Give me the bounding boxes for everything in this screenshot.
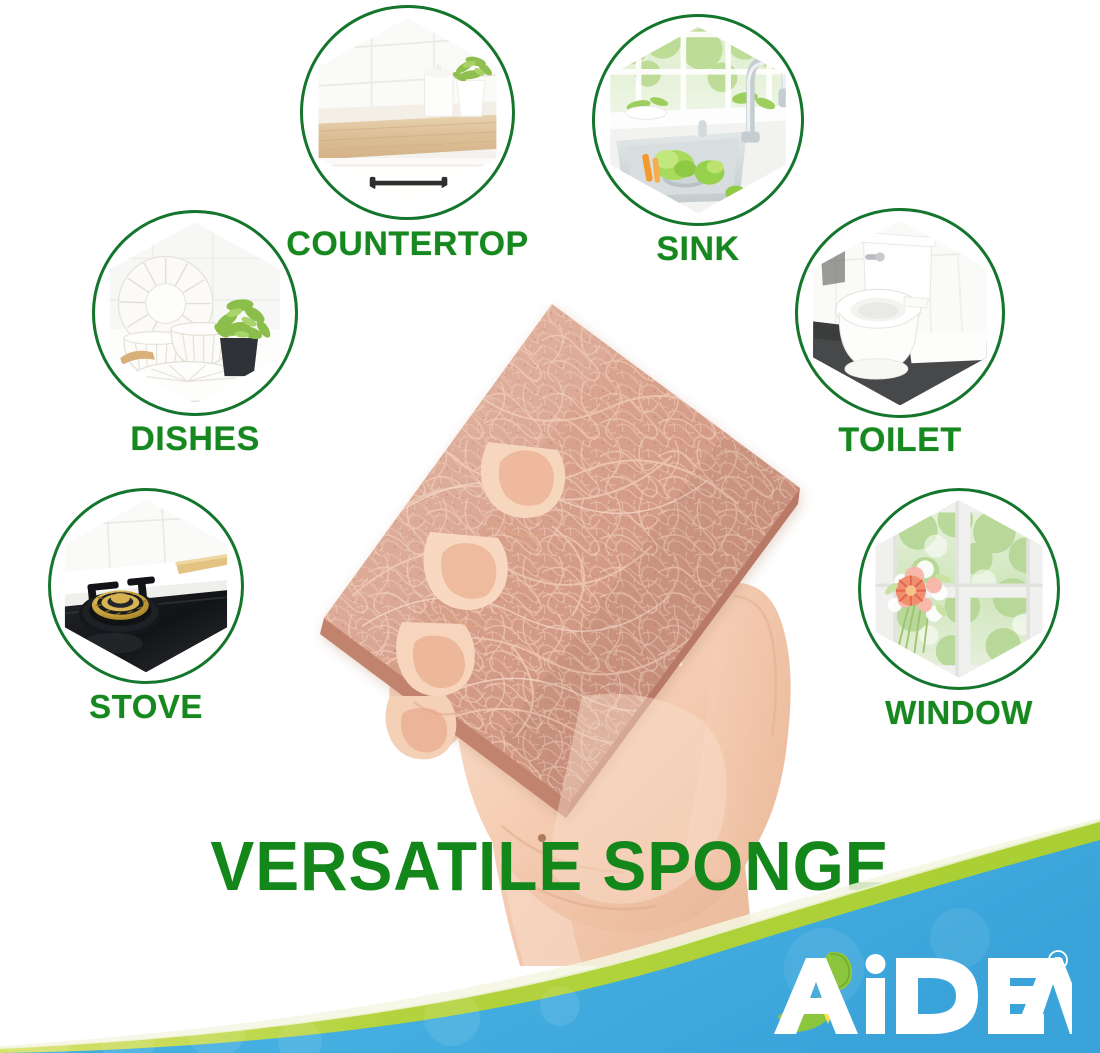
brand-logo: R [772,944,1072,1039]
svg-text:R: R [1054,956,1062,968]
feature-badge-countertop[interactable]: COUNTERTOP [300,5,515,220]
badge-circle [592,14,804,226]
feature-label-window: WINDOW [885,694,1033,732]
window-photo-icon [870,500,1048,678]
product-infographic: COUNTERTOP [0,0,1100,1053]
sink-photo-icon [605,27,792,214]
feature-badge-stove[interactable]: STOVE [48,488,244,684]
countertop-photo-icon [313,18,502,207]
page-headline: VERSATILE SPONGE [33,826,1067,906]
badge-circle [300,5,515,220]
feature-label-dishes: DISHES [130,420,260,459]
stove-photo-icon [60,500,232,672]
feature-label-sink: SINK [656,230,739,269]
feature-label-stove: STOVE [89,688,203,726]
feature-label-countertop: COUNTERTOP [286,225,528,264]
feature-badge-window[interactable]: WINDOW [858,488,1060,690]
feature-badge-sink[interactable]: SINK [592,14,804,226]
badge-circle [48,488,244,684]
badge-circle [858,488,1060,690]
